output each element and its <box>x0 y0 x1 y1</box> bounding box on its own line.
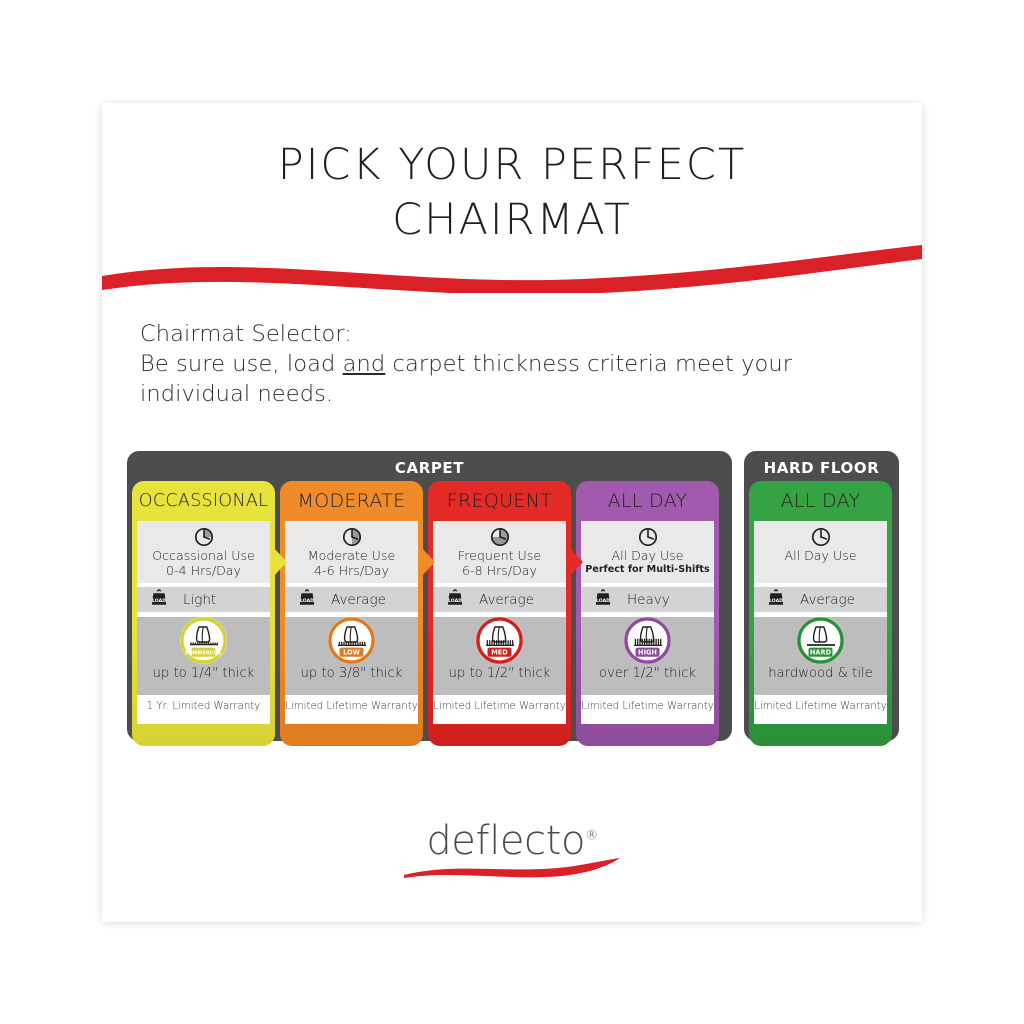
thickness-label: up to 1/2" thick <box>433 666 566 681</box>
svg-text:LOAD: LOAD <box>596 598 610 604</box>
load-band: LOADHeavy <box>581 587 714 612</box>
use-title: All Day Use <box>581 549 714 564</box>
use-band: All Day UsePerfect for Multi-Shifts <box>581 521 714 583</box>
progress-arrow-icon <box>272 546 287 578</box>
logo-text: deflecto <box>426 818 585 864</box>
chart-column-occassional[interactable]: OCCASSIONALOccassional Use0-4 Hrs/DayLOA… <box>132 481 275 746</box>
carpet-pile-low-icon: LOW <box>328 617 375 664</box>
column-header-label: ALL DAY <box>576 481 719 521</box>
carpet-pile-med-icon: MED <box>476 617 523 664</box>
warranty-label: 1 Yr. Limited Warranty <box>147 701 261 712</box>
warranty-band: Limited Lifetime Warranty <box>581 695 714 717</box>
warranty-label: Limited Lifetime Warranty <box>285 701 418 712</box>
chart-column-all-day[interactable]: ALL DAYAll Day UsePerfect for Multi-Shif… <box>576 481 719 746</box>
load-label: Average <box>479 592 534 608</box>
logo-wordmark: deflecto® <box>426 818 597 864</box>
intro-paragraph: Chairmat Selector: Be sure use, load and… <box>140 319 880 409</box>
svg-text:MED: MED <box>491 648 508 656</box>
use-hours: 0-4 Hrs/Day <box>137 564 270 579</box>
svg-text:HARD: HARD <box>810 648 832 656</box>
load-band: LOADAverage <box>285 587 418 612</box>
use-title: All Day Use <box>754 549 887 564</box>
title-line-1: PICK YOUR PERFECT <box>102 138 922 193</box>
svg-text:LOAD: LOAD <box>448 598 462 604</box>
thickness-band: LOWup to 3/8" thick <box>285 617 418 695</box>
column-body: Frequent Use6-8 Hrs/DayLOADAverageMEDup … <box>433 521 566 724</box>
clock-full-icon <box>581 526 714 548</box>
clock-half-icon <box>285 526 418 548</box>
use-subtitle: Perfect for Multi-Shifts <box>581 564 714 576</box>
load-weight-icon: LOAD <box>593 587 613 612</box>
load-label: Average <box>331 592 386 608</box>
warranty-label: Limited Lifetime Warranty <box>754 701 887 712</box>
intro-line-1: Chairmat Selector: <box>140 319 880 349</box>
svg-text:LOAD: LOAD <box>152 598 166 604</box>
chart-column-frequent[interactable]: FREQUENTFrequent Use6-8 Hrs/DayLOADAvera… <box>428 481 571 746</box>
chart-column-moderate[interactable]: MODERATEModerate Use4-6 Hrs/DayLOADAvera… <box>280 481 423 746</box>
intro-emphasis-and: and <box>343 351 386 377</box>
chairmat-selector-chart: CARPET HARD FLOOR OCCASSIONALOccassional… <box>127 451 899 751</box>
use-band: Occassional Use0-4 Hrs/Day <box>137 521 270 583</box>
column-body: Occassional Use0-4 Hrs/DayLOADLightCOMME… <box>137 521 270 724</box>
column-header-label: FREQUENT <box>428 481 571 521</box>
thickness-label: over 1/2" thick <box>581 666 714 681</box>
warranty-label: Limited Lifetime Warranty <box>581 701 714 712</box>
intro-line-3: individual needs. <box>140 379 880 409</box>
carpet-pile-commercial-icon: COMMERCIAL <box>180 617 227 664</box>
thickness-band: COMMERCIALup to 1/4" thick <box>137 617 270 695</box>
warranty-band: Limited Lifetime Warranty <box>754 695 887 717</box>
thickness-label: hardwood & tile <box>754 666 887 681</box>
clock-three-quarter-icon <box>433 526 566 548</box>
carpet-pile-high-icon: HIGH <box>624 617 671 664</box>
chart-column-all-day-hard[interactable]: ALL DAYAll Day UseLOADAverageHARDhardwoo… <box>749 481 892 746</box>
registered-mark: ® <box>585 829 598 844</box>
use-title: Frequent Use <box>433 549 566 564</box>
page-title: PICK YOUR PERFECT CHAIRMAT <box>102 138 922 248</box>
load-weight-icon: LOAD <box>297 587 317 612</box>
poster-canvas: PICK YOUR PERFECT CHAIRMAT Chairmat Sele… <box>0 0 1024 1024</box>
clock-quarter-icon <box>137 526 270 548</box>
load-band: LOADAverage <box>433 587 566 612</box>
progress-arrow-icon <box>568 546 583 578</box>
intro-line-2-a: Be sure use, load <box>140 351 343 377</box>
intro-line-2: Be sure use, load and carpet thickness c… <box>140 349 880 379</box>
warranty-band: Limited Lifetime Warranty <box>433 695 566 717</box>
poster-card: PICK YOUR PERFECT CHAIRMAT Chairmat Sele… <box>102 103 922 922</box>
load-weight-icon: LOAD <box>149 587 169 612</box>
column-body: All Day UseLOADAverageHARDhardwood & til… <box>754 521 887 724</box>
thickness-band: HIGHover 1/2" thick <box>581 617 714 695</box>
red-swoosh-divider <box>102 243 922 293</box>
load-weight-icon: LOAD <box>766 587 786 612</box>
intro-line-2-b: carpet thickness criteria meet your <box>385 351 792 377</box>
warranty-band: Limited Lifetime Warranty <box>285 695 418 717</box>
svg-text:LOAD: LOAD <box>300 598 314 604</box>
column-header-label: ALL DAY <box>749 481 892 521</box>
load-label: Average <box>800 592 855 608</box>
use-title: Occassional Use <box>137 549 270 564</box>
column-body: All Day UsePerfect for Multi-ShiftsLOADH… <box>581 521 714 724</box>
use-hours: 4-6 Hrs/Day <box>285 564 418 579</box>
thickness-band: HARDhardwood & tile <box>754 617 887 695</box>
svg-text:COMMERCIAL: COMMERCIAL <box>185 650 222 656</box>
load-weight-icon: LOAD <box>445 587 465 612</box>
group-carpet-label: CARPET <box>127 459 732 477</box>
use-band: Frequent Use6-8 Hrs/Day <box>433 521 566 583</box>
load-label: Heavy <box>627 592 670 608</box>
thickness-label: up to 1/4" thick <box>137 666 270 681</box>
column-header-label: OCCASSIONAL <box>132 481 275 521</box>
svg-text:LOW: LOW <box>343 648 361 656</box>
use-band: Moderate Use4-6 Hrs/Day <box>285 521 418 583</box>
thickness-label: up to 3/8" thick <box>285 666 418 681</box>
group-hard-floor-label: HARD FLOOR <box>744 459 899 477</box>
svg-text:HIGH: HIGH <box>638 648 657 656</box>
load-band: LOADAverage <box>754 587 887 612</box>
use-band: All Day Use <box>754 521 887 583</box>
clock-full-icon <box>754 526 887 548</box>
svg-text:LOAD: LOAD <box>769 598 783 604</box>
use-title: Moderate Use <box>285 549 418 564</box>
column-header-label: MODERATE <box>280 481 423 521</box>
load-label: Light <box>183 592 216 608</box>
hard-floor-icon: HARD <box>797 617 844 664</box>
load-band: LOADLight <box>137 587 270 612</box>
use-hours: 6-8 Hrs/Day <box>433 564 566 579</box>
warranty-label: Limited Lifetime Warranty <box>433 701 566 712</box>
progress-arrow-icon <box>420 546 435 578</box>
brand-logo: deflecto® <box>102 818 922 880</box>
title-line-2: CHAIRMAT <box>102 193 922 248</box>
warranty-band: 1 Yr. Limited Warranty <box>137 695 270 717</box>
thickness-band: MEDup to 1/2" thick <box>433 617 566 695</box>
column-body: Moderate Use4-6 Hrs/DayLOADAverageLOWup … <box>285 521 418 724</box>
